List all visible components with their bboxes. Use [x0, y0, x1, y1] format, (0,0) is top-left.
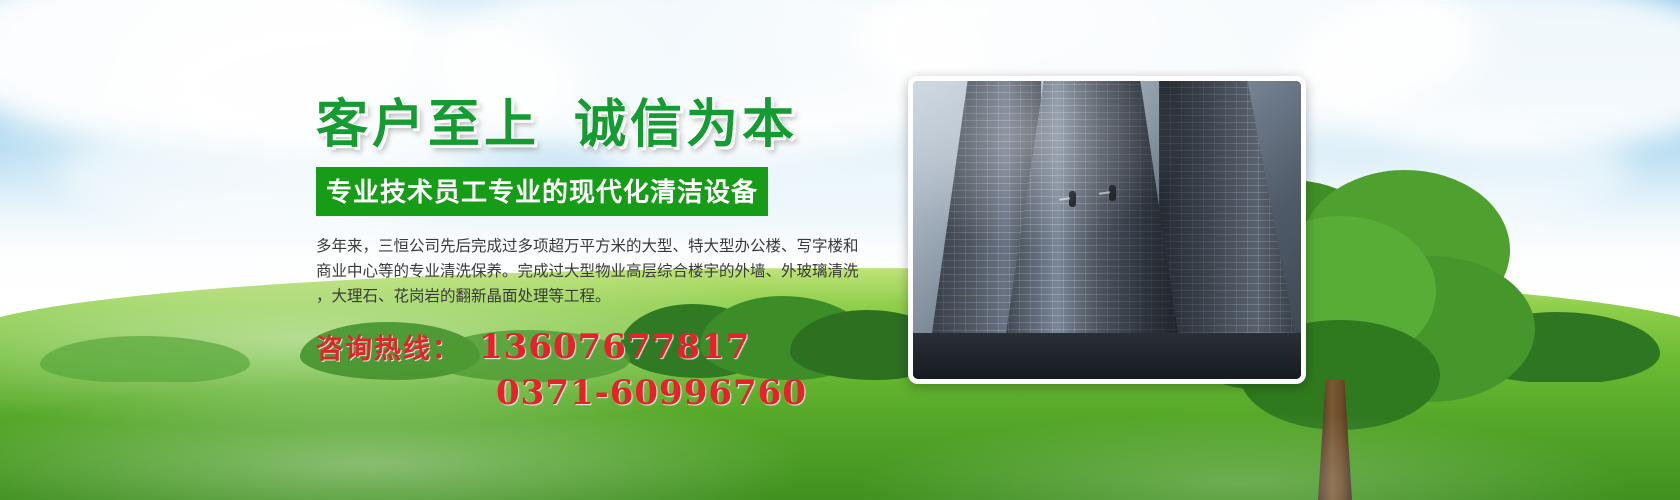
description-paragraph: 多年来，三恒公司先后完成过多项超万平方米的大型、特大型办公楼、写字楼和 商业中心…: [316, 234, 888, 309]
building-photo-card: [908, 76, 1306, 384]
headline-right: 诚信为本: [574, 94, 798, 155]
hero-banner: 客户至上诚信为本 专业技术员工专业的现代化清洁设备 多年来，三恒公司先后完成过多…: [0, 0, 1680, 500]
hotline-row: 咨询热线： 13607677817: [316, 327, 916, 367]
hero-content: 客户至上诚信为本 专业技术员工专业的现代化清洁设备 多年来，三恒公司先后完成过多…: [316, 96, 916, 413]
headline: 客户至上诚信为本: [316, 96, 916, 153]
headline-left: 客户至上: [316, 94, 540, 155]
cloud-shape: [1290, 0, 1680, 155]
photo-highlight: [913, 81, 1301, 379]
hotline-secondary-number[interactable]: 0371-60996760: [316, 373, 916, 413]
hotline-primary-number[interactable]: 13607677817: [479, 327, 750, 367]
subtitle-bar: 专业技术员工专业的现代化清洁设备: [316, 167, 768, 216]
hotline-label: 咨询热线：: [316, 327, 461, 366]
paragraph-line: ，大理石、花岗岩的翻新晶面处理等工程。: [316, 284, 888, 309]
paragraph-line: 多年来，三恒公司先后完成过多项超万平方米的大型、特大型办公楼、写字楼和: [316, 234, 888, 259]
paragraph-line: 商业中心等的专业清洗保养。完成过大型物业高层综合楼宇的外墙、外玻璃清洗: [316, 259, 888, 284]
